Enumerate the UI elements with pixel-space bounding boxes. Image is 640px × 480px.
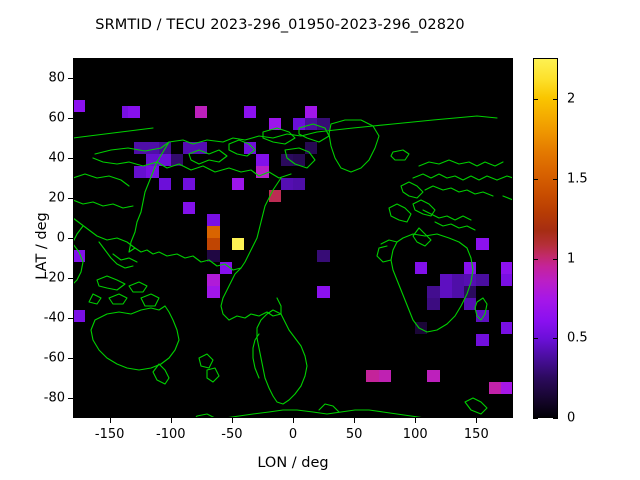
colorbar-tick	[553, 259, 558, 260]
x-axis-tick	[476, 418, 477, 423]
coastlines	[73, 58, 513, 418]
plot-root: SRMTID / TECU 2023-296_01950-2023-296_02…	[0, 0, 640, 480]
colorbar-tick	[533, 179, 538, 180]
y-axis-tick	[68, 78, 73, 79]
x-axis-tick-label: 0	[289, 427, 297, 442]
x-axis-tick	[293, 418, 294, 423]
colorbar-border	[533, 58, 558, 418]
colorbar-tick-label: 0	[567, 411, 575, 426]
colorbar-tick	[553, 99, 558, 100]
y-axis-tick	[68, 198, 73, 199]
y-axis-tick	[68, 278, 73, 279]
colorbar-tick	[533, 259, 538, 260]
colorbar-tick	[553, 338, 558, 339]
y-axis-tick	[68, 318, 73, 319]
colorbar-tick-label: 1.5	[567, 172, 588, 187]
colorbar-tick	[553, 418, 558, 419]
x-axis-tick-label: -50	[221, 427, 242, 442]
x-axis-tick-label: 50	[346, 427, 363, 442]
y-axis-tick-label: 60	[25, 111, 65, 126]
x-axis-tick	[415, 418, 416, 423]
colorbar-tick-label: 1	[567, 251, 575, 266]
colorbar-tick	[533, 338, 538, 339]
x-axis-tick-label: 100	[403, 427, 428, 442]
page-title: SRMTID / TECU 2023-296_01950-2023-296_02…	[0, 17, 560, 33]
x-axis-tick-label: 150	[464, 427, 489, 442]
colorbar-tick-label: 0.5	[567, 331, 588, 346]
y-axis-label: LAT / deg	[34, 156, 50, 336]
x-axis-tick	[110, 418, 111, 423]
x-axis-tick	[171, 418, 172, 423]
y-axis-tick-label: -60	[25, 351, 65, 366]
x-axis-tick	[232, 418, 233, 423]
colorbar-tick	[553, 179, 558, 180]
colorbar-tick	[533, 99, 538, 100]
x-axis-tick	[354, 418, 355, 423]
y-axis-tick	[68, 238, 73, 239]
x-axis-tick-label: -100	[156, 427, 186, 442]
x-axis-label: LON / deg	[73, 455, 513, 471]
y-axis-tick	[68, 398, 73, 399]
y-axis-tick	[68, 158, 73, 159]
x-axis-tick-label: -150	[95, 427, 125, 442]
colorbar-tick-label: 2	[567, 92, 575, 107]
y-axis-tick	[68, 358, 73, 359]
y-axis-tick	[68, 118, 73, 119]
map-plot-area	[73, 58, 513, 418]
y-axis-tick-label: -80	[25, 391, 65, 406]
colorbar-tick	[533, 418, 538, 419]
y-axis-tick-label: 80	[25, 71, 65, 86]
